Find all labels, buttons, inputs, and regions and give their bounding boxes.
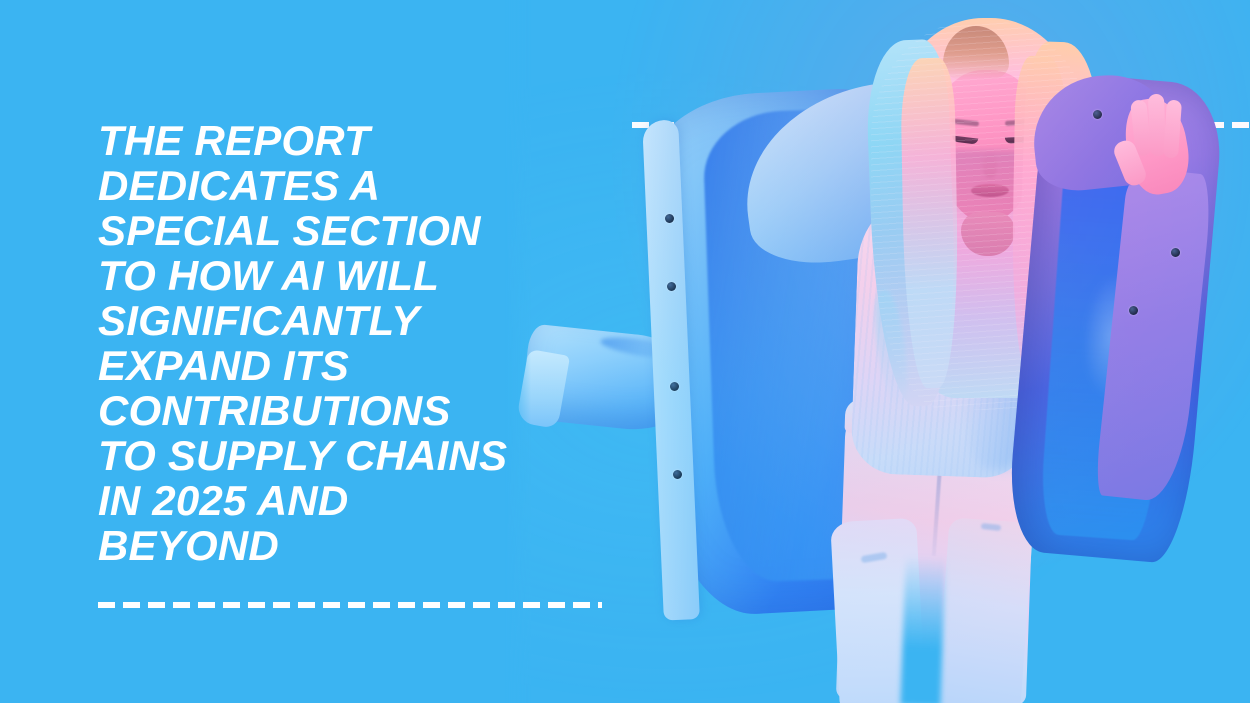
headline-line-8: TO SUPPLY CHAINS xyxy=(98,433,618,478)
headline-line-1: THE REPORT xyxy=(98,118,618,163)
headline-line-9: IN 2025 AND xyxy=(98,478,618,523)
jeans-leg-gap xyxy=(900,555,945,703)
jacket-button xyxy=(1171,248,1180,257)
jeans-right-leg xyxy=(937,517,1034,703)
headline-line-10: BEYOND xyxy=(98,523,618,568)
jacket-button xyxy=(1093,110,1102,119)
jacket-button xyxy=(1129,306,1138,315)
dashed-rule-bottom xyxy=(98,602,602,608)
headline-line-5: SIGNIFICANTLY xyxy=(98,298,618,343)
headline-line-2: DEDICATES A xyxy=(98,163,618,208)
headline-line-7: CONTRIBUTIONS xyxy=(98,388,618,433)
headline-line-4: TO HOW AI WILL xyxy=(98,253,618,298)
headline: THE REPORT DEDICATES A SPECIAL SECTION T… xyxy=(98,118,618,568)
jacket-button xyxy=(673,470,682,479)
jacket-button xyxy=(667,282,676,291)
headline-line-6: EXPAND ITS xyxy=(98,343,618,388)
jacket-button xyxy=(665,214,674,223)
banner-canvas: THE REPORT DEDICATES A SPECIAL SECTION T… xyxy=(0,0,1250,703)
headline-line-3: SPECIAL SECTION xyxy=(98,208,618,253)
jacket-button xyxy=(670,382,679,391)
